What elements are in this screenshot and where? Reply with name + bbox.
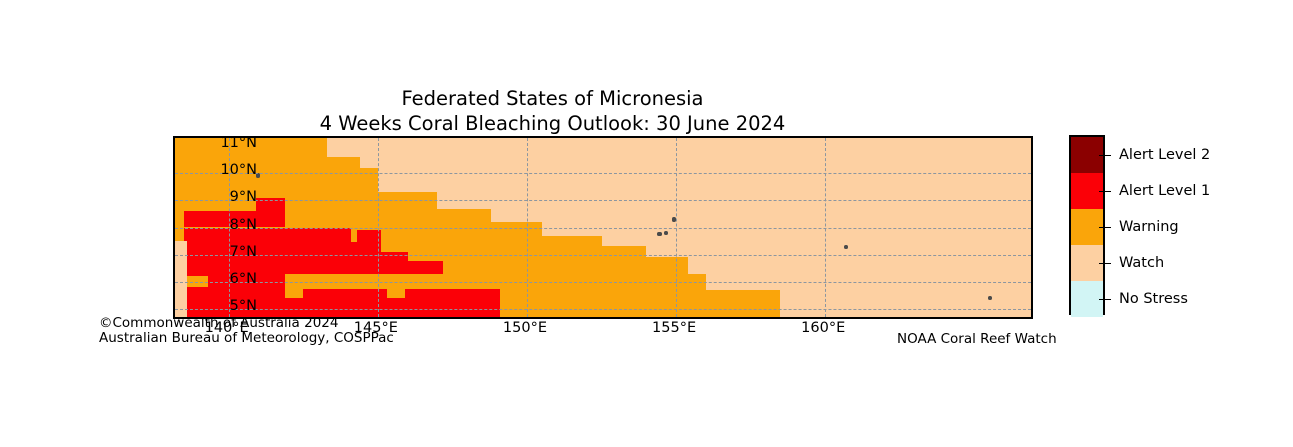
legend-colorbar: Alert Level 2Alert Level 1WarningWatchNo… xyxy=(1069,135,1293,315)
x-axis-label: 155°E xyxy=(614,320,734,336)
heatmap-region xyxy=(357,230,381,242)
coral-bleaching-outlook-figure: Federated States of Micronesia 4 Weeks C… xyxy=(0,0,1293,447)
legend-label: Alert Level 1 xyxy=(1119,183,1210,199)
heatmap-region xyxy=(256,198,286,212)
legend-tick xyxy=(1099,227,1111,228)
y-axis-label: 7°N xyxy=(137,244,257,260)
y-axis-label: 6°N xyxy=(137,271,257,287)
legend-tick xyxy=(1099,299,1111,300)
credit-noaa: NOAA Coral Reef Watch xyxy=(897,331,1057,347)
credit-agency: Australian Bureau of Meteorology, COSPPa… xyxy=(99,331,394,346)
heatmap-region xyxy=(303,289,387,298)
legend-label: Warning xyxy=(1119,219,1179,235)
x-axis-label: 160°E xyxy=(763,320,883,336)
island-marker xyxy=(672,217,676,221)
legend-tick xyxy=(1099,263,1111,264)
island-marker xyxy=(988,296,992,300)
heatmap-region xyxy=(405,289,500,298)
y-axis-label: 9°N xyxy=(137,189,257,205)
title-line-2: 4 Weeks Coral Bleaching Outlook: 30 June… xyxy=(0,111,1105,136)
legend-label: Alert Level 2 xyxy=(1119,147,1210,163)
y-axis-label: 5°N xyxy=(137,298,257,314)
legend-tick xyxy=(1099,191,1111,192)
credit-bom: ©Commonwealth of Australia 2024 Australi… xyxy=(99,316,394,346)
legend-tick xyxy=(1099,155,1111,156)
x-axis-label: 150°E xyxy=(465,320,585,336)
title-line-1: Federated States of Micronesia xyxy=(0,86,1105,111)
island-marker xyxy=(657,232,661,236)
y-axis-label: 11°N xyxy=(137,135,257,151)
legend-label: Watch xyxy=(1119,255,1164,271)
credit-copyright: ©Commonwealth of Australia 2024 xyxy=(99,316,394,331)
chart-title: Federated States of Micronesia 4 Weeks C… xyxy=(0,86,1105,136)
y-axis-label: 10°N xyxy=(137,162,257,178)
heatmap-cells xyxy=(175,138,1031,317)
map-plot-area xyxy=(173,136,1033,319)
y-axis-label: 8°N xyxy=(137,217,257,233)
legend-label: No Stress xyxy=(1119,291,1188,307)
colorbar xyxy=(1069,135,1105,315)
